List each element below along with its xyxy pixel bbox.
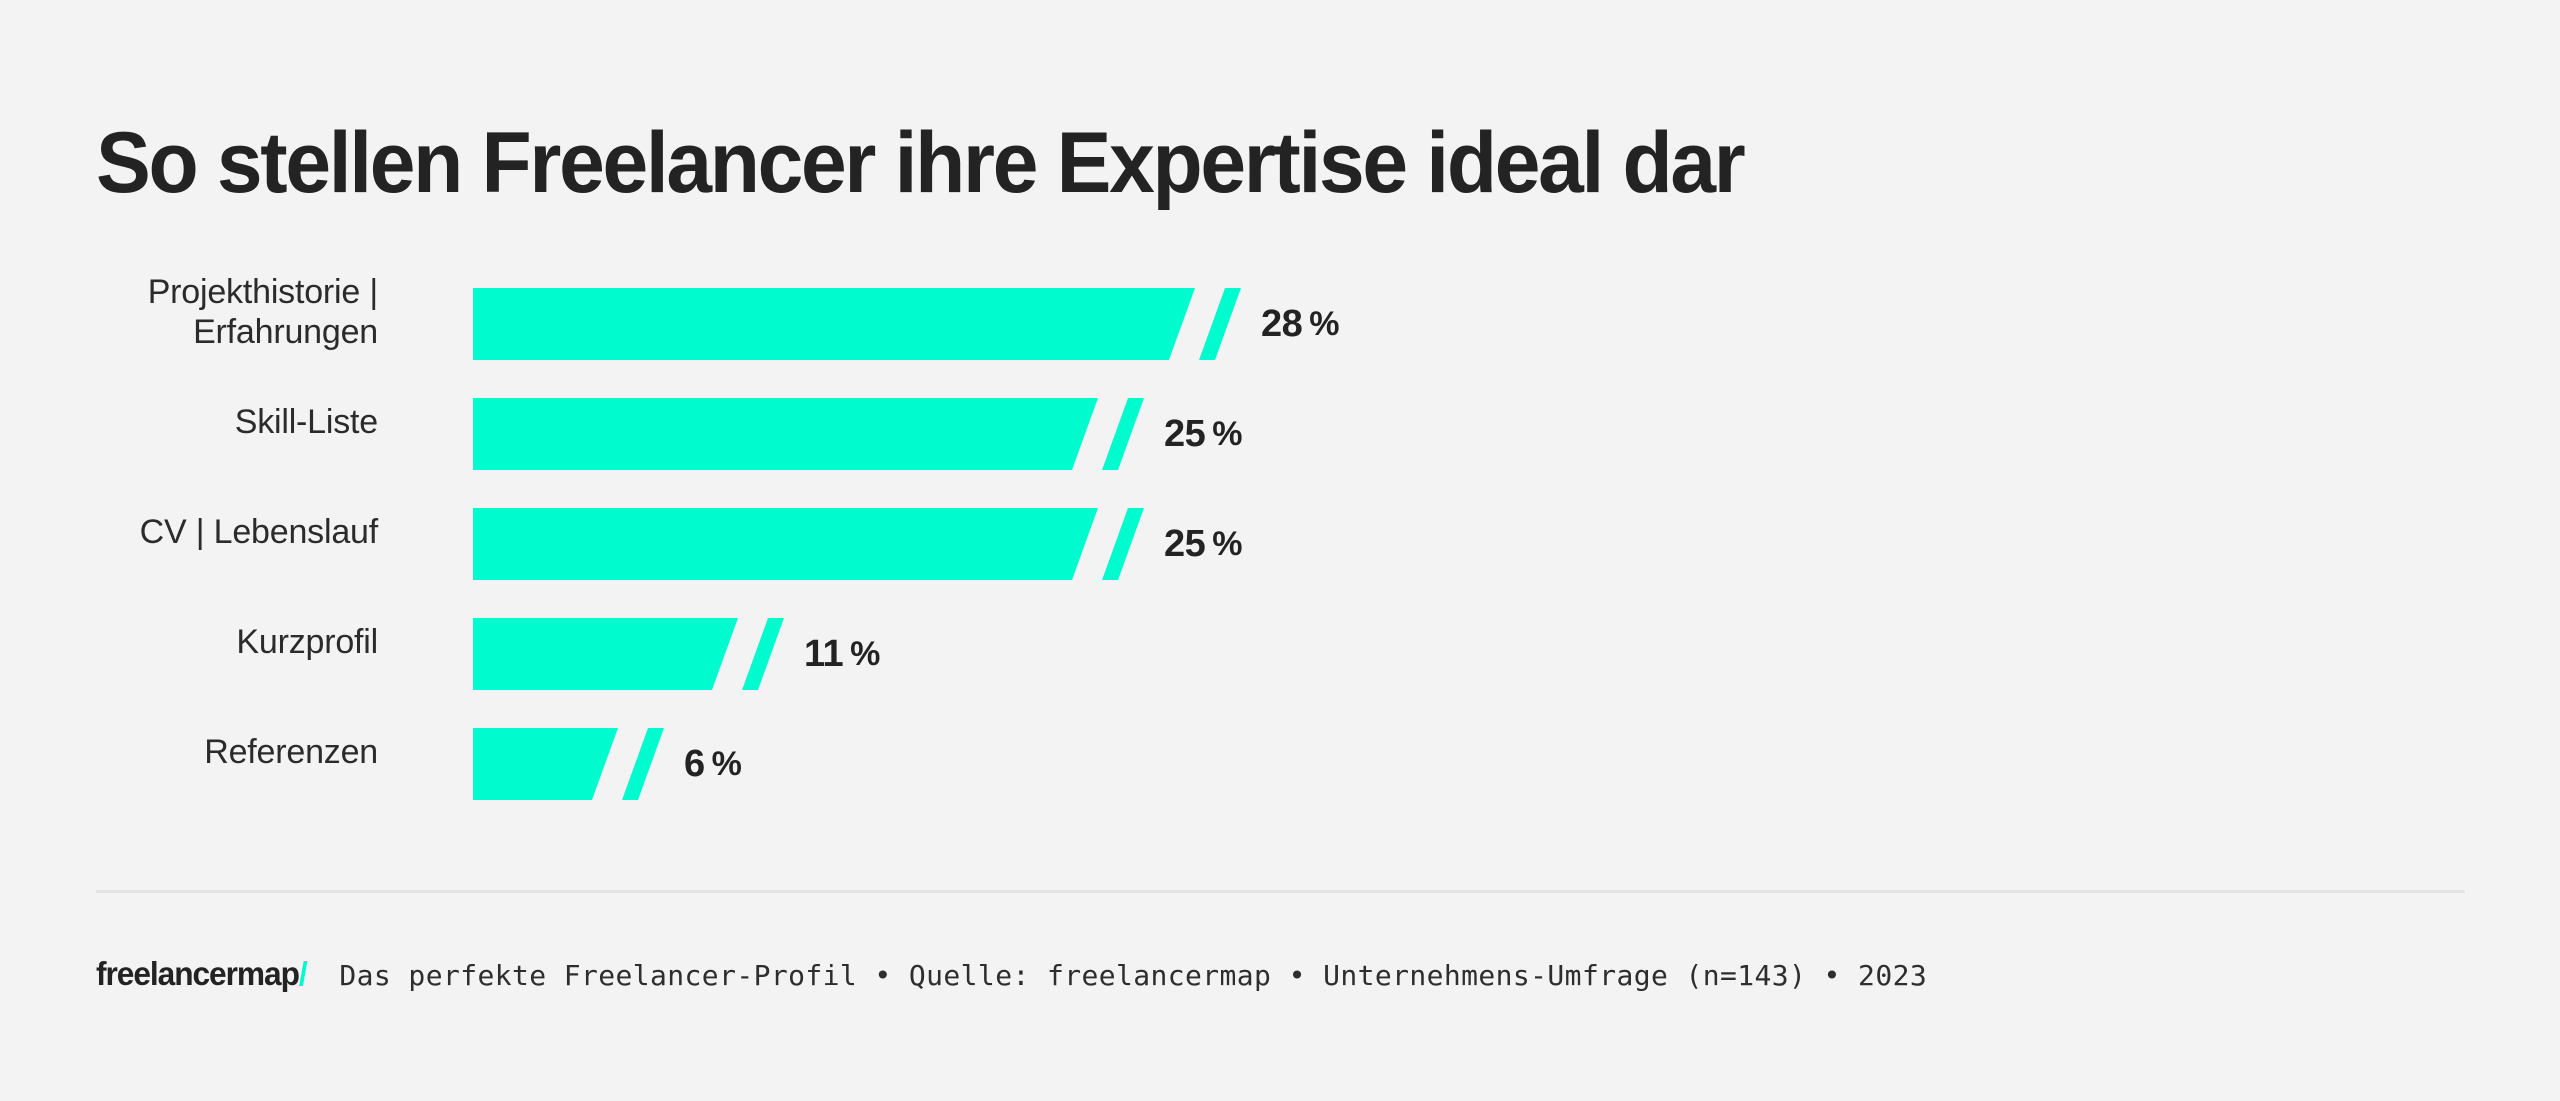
- bar-value-unit: %: [1212, 415, 1242, 454]
- bar-value-label: 6%: [684, 728, 741, 800]
- bar-category-label: Skill-Liste: [0, 368, 378, 478]
- bar-category-label: Kurzprofil: [0, 588, 378, 698]
- infographic-canvas: So stellen Freelancer ihre Expertise ide…: [0, 0, 2560, 1101]
- freelancermap-logo[interactable]: freelancermap/: [96, 955, 307, 993]
- bar-track: 28%: [473, 258, 2560, 368]
- bar-value-label: 11%: [804, 618, 880, 690]
- bar-slash-icon: [1102, 508, 1144, 580]
- bar-fill[interactable]: [473, 728, 618, 800]
- bar-value-unit: %: [1309, 305, 1339, 344]
- bar-track: 25%: [473, 368, 2560, 478]
- bar-category-label-line: Referenzen: [204, 733, 378, 773]
- bar-value-unit: %: [850, 635, 880, 674]
- logo-wordmark: freelancermap: [96, 955, 299, 992]
- chart-row: Referenzen6%: [0, 698, 2560, 808]
- page-title: So stellen Freelancer ihre Expertise ide…: [96, 120, 2369, 206]
- bar-category-label-line: Erfahrungen: [193, 313, 378, 353]
- bar-value-label: 25%: [1164, 508, 1242, 580]
- bar-slash-icon: [1199, 288, 1241, 360]
- chart-row: CV | Lebenslauf25%: [0, 478, 2560, 588]
- bar-slash-icon: [742, 618, 784, 690]
- bar-track: 25%: [473, 478, 2560, 588]
- bar-category-label: Referenzen: [0, 698, 378, 808]
- chart-row: Kurzprofil11%: [0, 588, 2560, 698]
- bar-value-number: 6: [684, 743, 705, 786]
- bar-value-unit: %: [712, 745, 742, 784]
- bar-category-label-line: Kurzprofil: [236, 623, 378, 663]
- bar-category-label: CV | Lebenslauf: [0, 478, 378, 588]
- bar-fill[interactable]: [473, 288, 1195, 360]
- bar-chart: Projekthistorie |Erfahrungen28%Skill-Lis…: [0, 258, 2560, 808]
- bar-value-number: 25: [1164, 523, 1205, 566]
- bar-category-label-line: CV | Lebenslauf: [140, 513, 378, 553]
- bar-value-number: 28: [1261, 303, 1302, 346]
- bar-fill[interactable]: [473, 618, 738, 690]
- chart-row: Skill-Liste25%: [0, 368, 2560, 478]
- bar-value-label: 25%: [1164, 398, 1242, 470]
- bar-track: 6%: [473, 698, 2560, 808]
- bar-category-label: Projekthistorie |Erfahrungen: [0, 258, 378, 368]
- footer-source-note: Das perfekte Freelancer-Profil • Quelle:…: [339, 959, 1927, 992]
- bar-value-number: 11: [804, 633, 843, 676]
- bar-fill[interactable]: [473, 508, 1098, 580]
- bar-value-label: 28%: [1261, 288, 1339, 360]
- bar-track: 11%: [473, 588, 2560, 698]
- footer: freelancermap/ Das perfekte Freelancer-P…: [96, 955, 1927, 993]
- bar-value-number: 25: [1164, 413, 1205, 456]
- bar-category-label-line: Projekthistorie |: [148, 273, 378, 313]
- bar-category-label-line: Skill-Liste: [235, 403, 378, 443]
- chart-row: Projekthistorie |Erfahrungen28%: [0, 258, 2560, 368]
- footer-divider: [96, 890, 2465, 893]
- bar-slash-icon: [622, 728, 664, 800]
- logo-slash-icon: /: [299, 955, 307, 992]
- bar-fill[interactable]: [473, 398, 1098, 470]
- bar-slash-icon: [1102, 398, 1144, 470]
- bar-value-unit: %: [1212, 525, 1242, 564]
